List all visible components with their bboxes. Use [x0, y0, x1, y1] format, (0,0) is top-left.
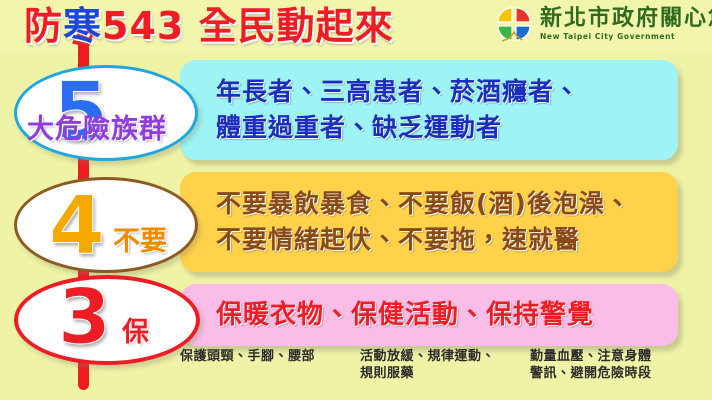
content-panel-5: 年長者、三高患者、菸酒癮者、 體重過重者、缺乏運動者	[180, 60, 678, 160]
footnote-line: 勤量血壓、注意身體	[530, 348, 700, 365]
content-text-5: 年長者、三高患者、菸酒癮者、 體重過重者、缺乏運動者	[216, 60, 664, 160]
section-row-3: 保暖衣物、保健活動、保持警覺 3 保	[0, 284, 712, 346]
organization-logo: 新北市政府關心您 New Taipei City Government	[492, 4, 706, 50]
footnote-line: 活動放緩、規律運動、	[360, 348, 530, 365]
footnote-line: 保護頭頸、手腳、腰部	[180, 348, 360, 365]
badge-number-3: 3	[58, 279, 111, 355]
badge-inner-4: 4 不要	[17, 180, 195, 270]
content-panel-4: 不要暴飲暴食、不要飯(酒)後泡澡、 不要情緒起伏、不要拖，速就醫	[180, 172, 678, 272]
poster-canvas: 防寒543 全民動起來 新北市政府關心您 New Taipei City G	[0, 0, 712, 400]
badge-sublabel-3: 保	[122, 319, 149, 346]
new-taipei-city-pinwheel-logo-icon	[492, 6, 536, 46]
badge-ellipse-3: 3 保	[14, 275, 200, 365]
content-text-3: 保暖衣物、保健活動、保持警覺	[216, 284, 664, 346]
badge-number-4: 4	[49, 186, 105, 266]
badge-inner-5: 5 大危險族群	[17, 68, 195, 158]
badge-sublabel-4: 不要	[113, 228, 167, 255]
page-title: 防寒543 全民動起來	[24, 2, 394, 50]
organization-name-chinese: 新北市政府關心您	[540, 5, 706, 31]
organization-name-english: New Taipei City Government	[540, 32, 706, 42]
title-segment-3: 543 全民動起來	[102, 4, 394, 48]
organization-logo-text: 新北市政府關心您 New Taipei City Government	[540, 5, 706, 42]
footnote-line: 警訊、避開危險時段	[530, 365, 700, 382]
footnote-column-3: 勤量血壓、注意身體 警訊、避開危險時段	[530, 348, 700, 382]
title-segment-2: 寒	[63, 4, 102, 48]
badge-ellipse-5: 5 大危險族群	[14, 65, 198, 161]
content-line: 體重過重者、缺乏運動者	[216, 110, 664, 146]
footnote-line: 規則服藥	[360, 365, 530, 382]
content-line: 不要情緒起伏、不要拖，速就醫	[216, 222, 664, 258]
footnote-row: 保護頭頸、手腳、腰部 活動放緩、規律運動、 規則服藥 勤量血壓、注意身體 警訊、…	[180, 348, 700, 396]
title-segment-1: 防	[24, 4, 63, 48]
section-row-5: 年長者、三高患者、菸酒癮者、 體重過重者、缺乏運動者 5 大危險族群	[0, 60, 712, 160]
content-line: 保暖衣物、保健活動、保持警覺	[216, 297, 664, 333]
content-line: 不要暴飲暴食、不要飯(酒)後泡澡、	[216, 186, 664, 222]
badge-ellipse-4: 4 不要	[14, 177, 198, 273]
footnote-column-2: 活動放緩、規律運動、 規則服藥	[360, 348, 530, 382]
content-line: 年長者、三高患者、菸酒癮者、	[216, 74, 664, 110]
poster-header: 防寒543 全民動起來 新北市政府關心您 New Taipei City G	[0, 0, 712, 52]
content-text-4: 不要暴飲暴食、不要飯(酒)後泡澡、 不要情緒起伏、不要拖，速就醫	[216, 172, 664, 272]
badge-inner-3: 3 保	[18, 279, 196, 361]
badge-sublabel-5: 大危險族群	[27, 116, 167, 143]
footnote-column-1: 保護頭頸、手腳、腰部	[180, 348, 360, 365]
section-row-4: 不要暴飲暴食、不要飯(酒)後泡澡、 不要情緒起伏、不要拖，速就醫 4 不要	[0, 172, 712, 272]
content-panel-3: 保暖衣物、保健活動、保持警覺	[180, 284, 678, 346]
